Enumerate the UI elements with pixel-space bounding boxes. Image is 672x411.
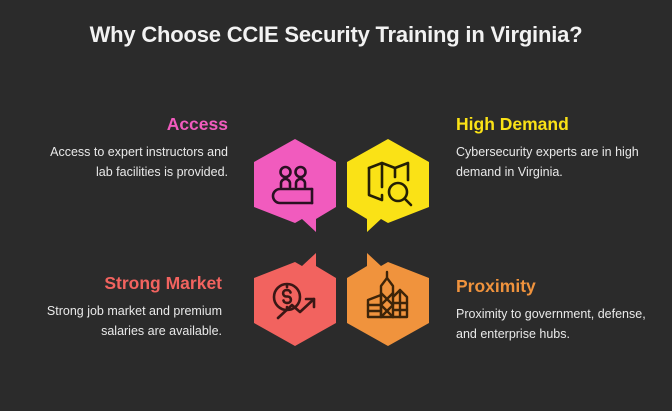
feature-body-access: Access to expert instructors and lab fac… bbox=[38, 143, 228, 182]
hexagon-proximity bbox=[343, 245, 433, 348]
feature-heading-access: Access bbox=[38, 115, 228, 134]
feature-body-strong-market: Strong job market and premium salaries a… bbox=[32, 302, 222, 341]
feature-block-strong-market: Strong Market Strong job market and prem… bbox=[32, 274, 222, 341]
feature-heading-proximity: Proximity bbox=[456, 277, 646, 296]
page-title: Why Choose CCIE Security Training in Vir… bbox=[0, 22, 672, 48]
hexagon-access bbox=[250, 137, 340, 240]
hexagon-shape-strong-market bbox=[254, 253, 336, 346]
infographic-canvas: Why Choose CCIE Security Training in Vir… bbox=[0, 0, 672, 411]
hexagon-shape-high-demand bbox=[347, 139, 429, 232]
feature-block-access: Access Access to expert instructors and … bbox=[38, 115, 228, 182]
feature-heading-high-demand: High Demand bbox=[456, 115, 646, 134]
feature-heading-strong-market: Strong Market bbox=[32, 274, 222, 293]
feature-body-high-demand: Cybersecurity experts are in high demand… bbox=[456, 143, 646, 182]
hexagon-high-demand bbox=[343, 137, 433, 240]
feature-block-high-demand: High Demand Cybersecurity experts are in… bbox=[456, 115, 646, 182]
hexagon-icon-grid bbox=[247, 137, 437, 347]
hexagon-strong-market bbox=[250, 245, 340, 348]
feature-body-proximity: Proximity to government, defense, and en… bbox=[456, 305, 646, 344]
feature-block-proximity: Proximity Proximity to government, defen… bbox=[456, 277, 646, 344]
